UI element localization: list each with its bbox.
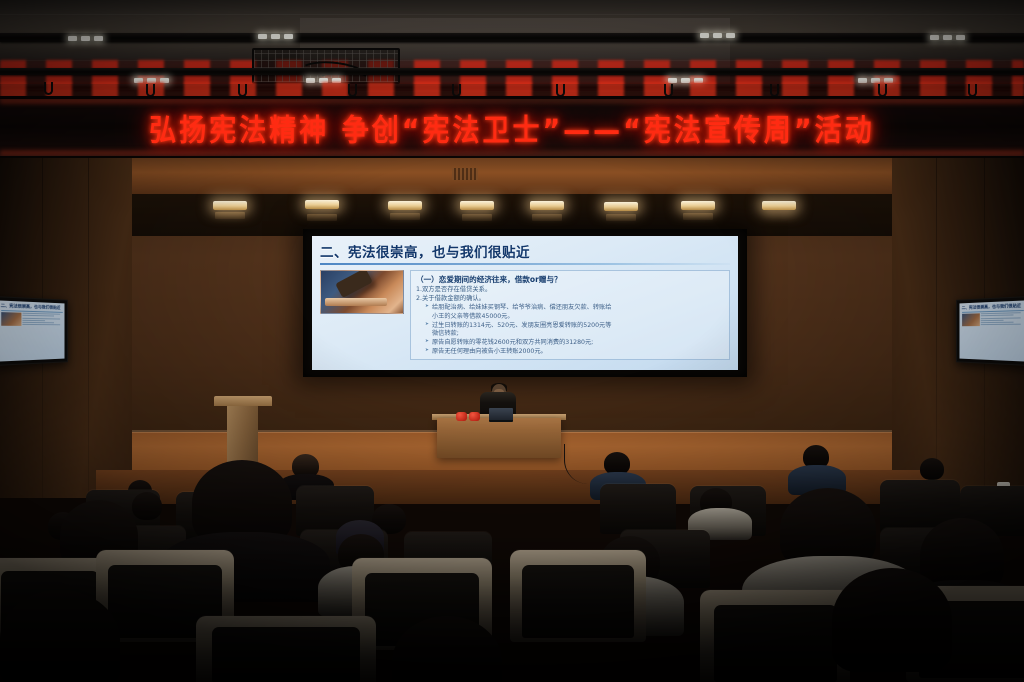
stage-light-2 [305,200,339,209]
slide-bullet: 微信转款; [425,330,724,339]
lighting-truss-mid [0,68,1024,75]
audience-head-nearest [832,568,952,672]
ceiling [0,0,1024,96]
stage-light-base [307,214,337,221]
stage-light-base [683,213,713,220]
seat-front-row[interactable] [196,616,376,682]
slide-bullet-list: 给朋配治病、给妹妹买钢琴、给爷爷治病、偿还朋友欠款、转账给 小王的父亲等借款45… [416,304,724,356]
stage-light-1 [213,201,247,210]
gavel-image [320,270,404,314]
stage-light-5 [530,201,564,210]
stage-light-8 [762,201,796,210]
slide-numbered-item: 1.双方是否存在借贷关系。 [416,286,724,295]
slide-bullet: 给朋配治病、给妹妹买钢琴、给爷爷治病、偿还朋友欠款、转账给 [425,304,724,313]
stage-light-base [606,214,636,221]
stage-ceiling-soffit [132,158,892,194]
led-banner: 弘扬宪法精神 争创“宪法卫士”——“宪法宣传周”活动 [0,96,1024,158]
led-banner-text: 弘扬宪法精神 争创“宪法卫士”——“宪法宣传周”活动 [149,105,874,149]
audience-chair [600,484,676,534]
lectern-top [214,396,272,406]
stage-light-base [215,212,245,219]
laptop [489,408,513,422]
slide-text-block: （一）恋爱期间的经济往来，借款or赠与？ 1.双方是否存在借贷关系。 2.关于借… [410,270,730,361]
projection-screen: 二、宪法很崇高，也与我们很贴近 （一）恋爱期间的经济往来，借款or赠与？ 1.双… [303,229,747,377]
slide-bullet: 小王的父亲等借款45000元。 [425,313,724,322]
audience-head [132,492,162,520]
slide-bullet: 原告无任何理由向被告小王转账2000元。 [425,348,724,357]
left-monitor-thumbnail [1,312,21,326]
stage-light-4 [460,201,494,210]
seat-front-row[interactable] [510,550,646,642]
presentation-slide: 二、宪法很崇高，也与我们很贴近 （一）恋爱期间的经济往来，借款or赠与？ 1.双… [312,236,738,370]
seat-front-row[interactable] [700,590,850,682]
right-monitor-text-lines [981,312,1024,327]
left-side-monitor: 二、宪法很崇高，也与我们很贴近 [0,296,68,366]
left-monitor-text-lines [22,313,62,327]
slide-numbered-item: 2.关于借款金额的确认。 [416,295,724,304]
spot-light-group-1 [68,36,103,41]
spot-light-group-3 [700,33,735,38]
lighting-truss-upper [0,33,1024,42]
slide-subheading: （一）恋爱期间的经济往来，借款or赠与？ [416,274,724,285]
rigging-hook [44,82,53,95]
left-monitor-screen: 二、宪法很崇高，也与我们很贴近 [0,300,64,361]
stage-light-base [532,214,562,221]
right-side-monitor: 二、宪法很崇高，也与我们很贴近 [956,296,1024,366]
red-desk-object-1 [456,412,467,421]
stage-light-7 [681,201,715,210]
lecture-hall-scene: 弘扬宪法精神 争创“宪法卫士”——“宪法宣传周”活动 二、宪法很崇高，也与我们很… [0,0,1024,682]
left-monitor-title: 二、宪法很崇高，也与我们很贴近 [1,303,63,313]
audience-head [920,458,944,480]
right-monitor-title: 二、宪法很崇高，也与我们很贴近 [962,303,1024,313]
stage-light-base [462,214,492,221]
slide-bullet: 过生日转账的1314元、520元、发朋友圈亮恩爱转账的5200元等 [425,322,724,331]
audience-head-nearest [0,590,120,682]
red-desk-object-2 [469,412,480,421]
slide-title: 二、宪法很崇高，也与我们很贴近 [320,241,730,263]
audience-area [0,440,1024,682]
slide-title-divider [320,263,730,265]
spot-light-group-2 [258,34,293,39]
ceiling-vent [452,168,478,180]
stage-light-3 [388,201,422,210]
right-monitor-screen: 二、宪法很崇高，也与我们很贴近 [960,300,1024,361]
stage-light-6 [604,202,638,211]
spot-light-group-4 [930,35,965,40]
right-monitor-thumbnail [962,313,980,326]
stage-light-base [390,213,420,220]
slide-bullet: 原告自愿转账的零花钱2600元和双方共同消费的31280元; [425,339,724,348]
